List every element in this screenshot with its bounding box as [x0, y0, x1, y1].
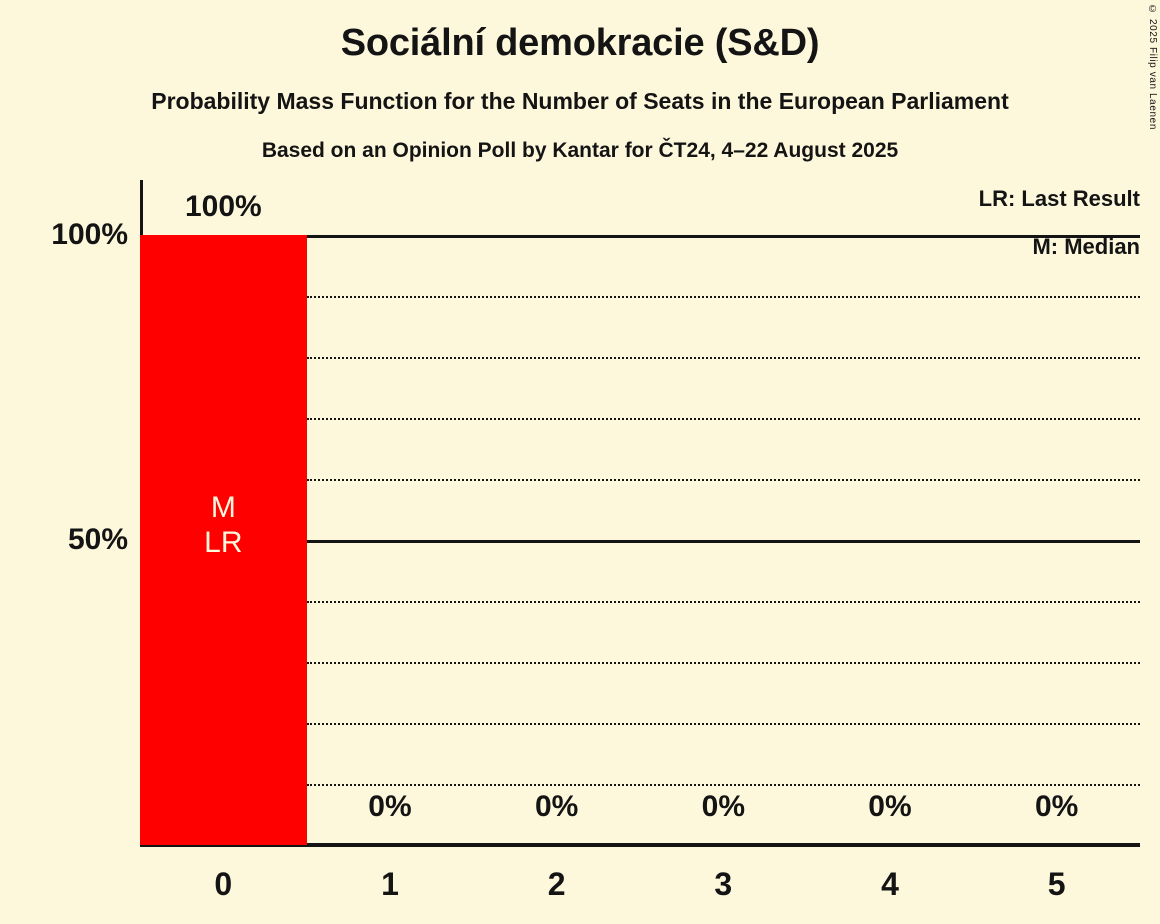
x-axis-tick-label: 2: [473, 866, 640, 903]
chart-subtitle: Probability Mass Function for the Number…: [0, 88, 1160, 115]
x-axis-tick-label: 0: [140, 866, 307, 903]
x-axis-tick-label: 3: [640, 866, 807, 903]
y-axis-tick-label: 100%: [0, 218, 128, 252]
page-title: Sociální demokracie (S&D): [0, 22, 1160, 65]
x-axis-tick-label: 5: [973, 866, 1140, 903]
chart-source-line: Based on an Opinion Poll by Kantar for Č…: [0, 139, 1160, 163]
y-axis-ticks: 100%50%: [0, 180, 1160, 846]
x-axis-tick-label: 4: [807, 866, 974, 903]
y-axis-tick-label: 50%: [0, 523, 128, 557]
chart-root: Sociální demokracie (S&D) Probability Ma…: [0, 0, 1160, 924]
copyright-notice: © 2025 Filip van Laenen: [1147, 4, 1158, 144]
x-axis-tick-label: 1: [307, 866, 474, 903]
